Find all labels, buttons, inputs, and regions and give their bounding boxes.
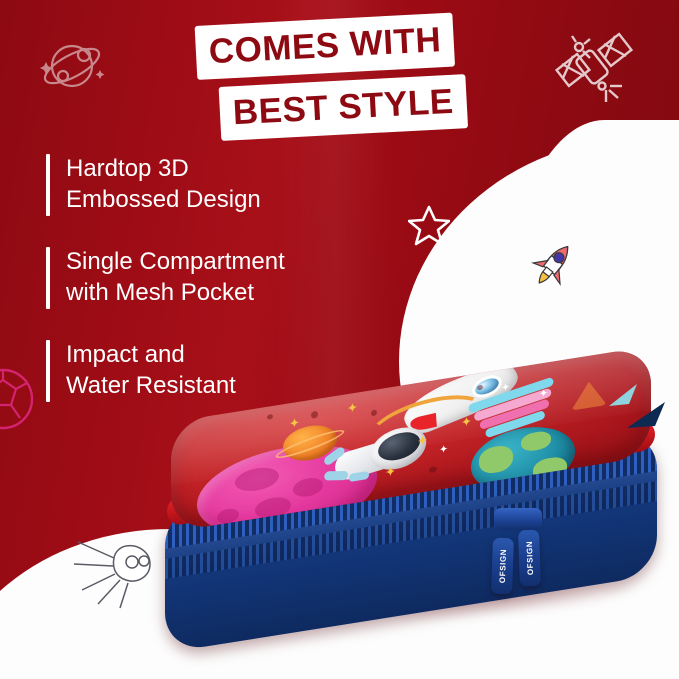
moon-crater — [293, 476, 323, 499]
feature-item-1: Hardtop 3D Embossed Design — [46, 154, 376, 216]
feature-accent-bar — [46, 247, 50, 309]
art-star: ✦ — [461, 414, 472, 429]
product-feature-banner: COMES WITH BEST STYLE Hardtop 3D Embosse… — [0, 0, 679, 679]
art-star-white: ✦ — [501, 382, 510, 394]
astronaut-leg — [349, 471, 369, 482]
art-ufo — [571, 377, 607, 411]
product-image: ✦ ✦ ✦ ✦ ✦ ✦ ✦ ✦ OFSIGN OFSIGN — [155, 372, 675, 652]
feature-text-1: Hardtop 3D Embossed Design — [66, 154, 261, 216]
headline-line-2: BEST STYLE — [219, 74, 468, 141]
earth-landmass — [521, 430, 551, 453]
feature-item-2: Single Compartment with Mesh Pocket — [46, 247, 376, 309]
planet-orbit-doodle — [34, 34, 110, 104]
feature-2-line-2: with Mesh Pocket — [66, 278, 285, 309]
headline: COMES WITH BEST STYLE — [196, 26, 496, 141]
art-dot — [429, 466, 437, 473]
feature-accent-bar — [46, 154, 50, 216]
feature-1-line-2: Embossed Design — [66, 185, 261, 216]
earth-landmass — [479, 444, 513, 475]
soccer-ball-doodle — [0, 368, 34, 430]
zipper-pull-brand-label: OFSIGN — [497, 549, 507, 584]
feature-accent-bar — [46, 340, 50, 402]
feature-3-line-1: Impact and — [66, 340, 236, 371]
sparkle-arrow-dark — [625, 400, 669, 435]
zipper-slider[interactable] — [494, 508, 542, 530]
comet-doodle — [70, 528, 166, 614]
art-star-white: ✦ — [439, 444, 448, 456]
rocket-doodle — [528, 238, 580, 290]
art-star: ✦ — [385, 464, 396, 479]
zipper-pull-left[interactable]: OFSIGN — [491, 538, 514, 595]
moon-crater — [235, 465, 279, 494]
art-star: ✦ — [289, 416, 300, 431]
star-outline-doodle — [408, 204, 450, 246]
art-star-white: ✦ — [539, 388, 548, 400]
feature-1-line-1: Hardtop 3D — [66, 154, 261, 185]
feature-2-line-1: Single Compartment — [66, 247, 285, 278]
art-star: ✦ — [417, 433, 428, 448]
feature-text-2: Single Compartment with Mesh Pocket — [66, 247, 285, 309]
zipper-pull-brand-label: OFSIGN — [524, 541, 534, 576]
art-star: ✦ — [347, 400, 358, 415]
astronaut-leg — [324, 471, 349, 481]
zipper-pull-right[interactable]: OFSIGN — [518, 530, 541, 587]
satellite-doodle — [552, 28, 638, 114]
